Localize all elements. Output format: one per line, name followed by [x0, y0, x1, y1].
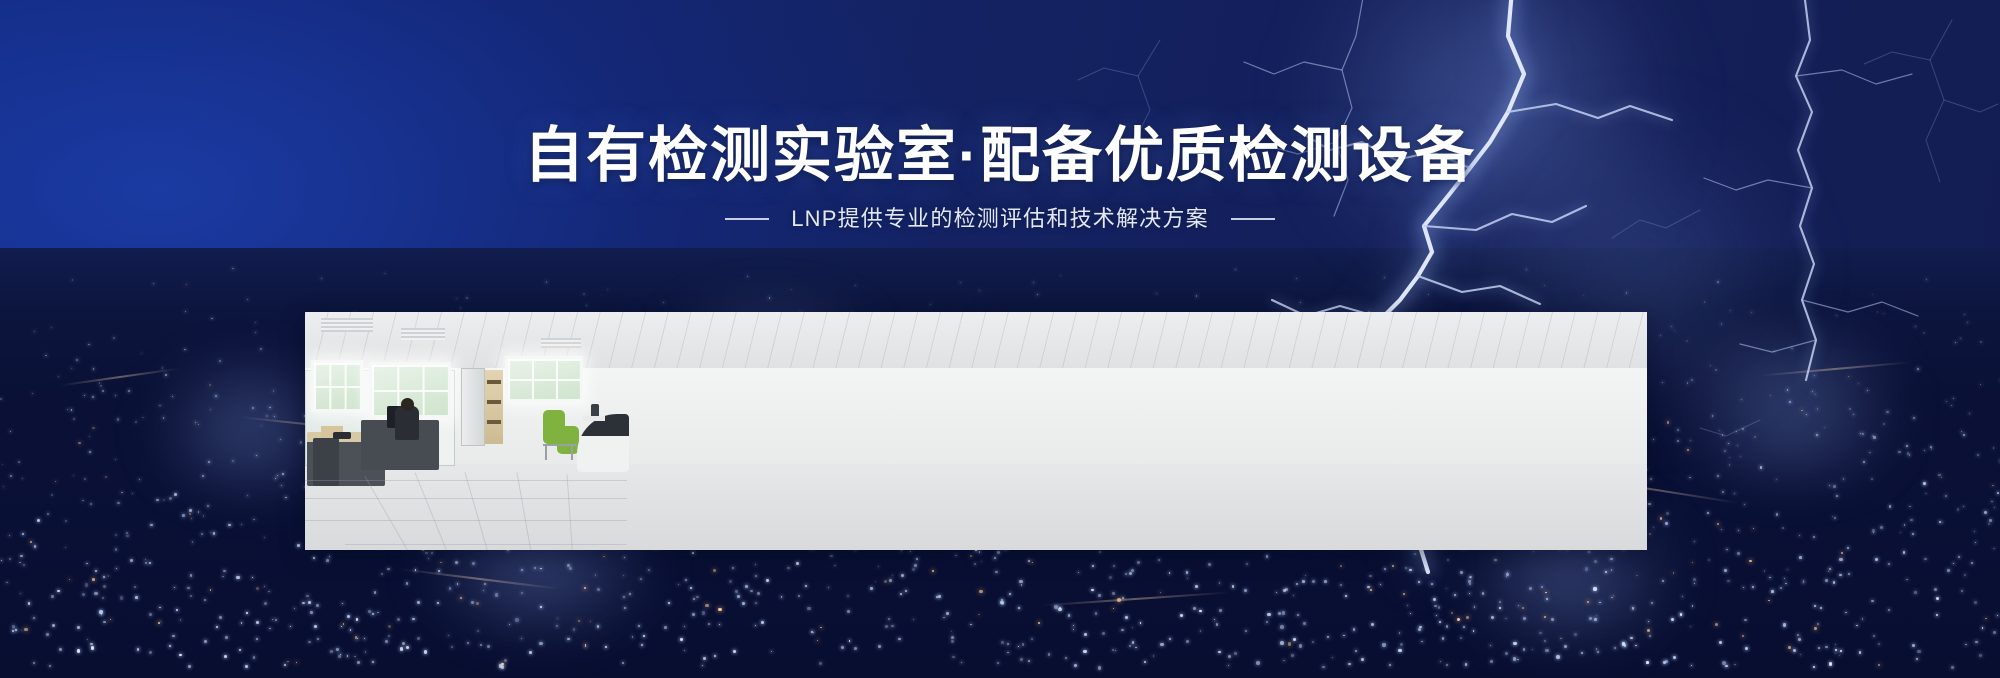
hero-banner: 自有检测实验室·配备优质检测设备 LNP提供专业的检测评估和技术解决方案	[0, 0, 2000, 678]
dash-right-icon	[1231, 218, 1275, 220]
photo-office	[305, 312, 1647, 550]
photo-gallery: 广东雷宁普电气检测技术有限公司 Guangdong Lighting Prote…	[305, 312, 1647, 550]
hero-text-block: 自有检测实验室·配备优质检测设备 LNP提供专业的检测评估和技术解决方案	[0, 0, 2000, 232]
hero-subtitle: LNP提供专业的检测评估和技术解决方案	[791, 206, 1209, 232]
hero-subtitle-row: LNP提供专业的检测评估和技术解决方案	[0, 206, 2000, 232]
office-worker	[395, 406, 419, 440]
dash-left-icon	[725, 218, 769, 220]
page-title: 自有检测实验室·配备优质检测设备	[0, 124, 2000, 188]
gallery-card-office[interactable]	[1325, 312, 1647, 550]
